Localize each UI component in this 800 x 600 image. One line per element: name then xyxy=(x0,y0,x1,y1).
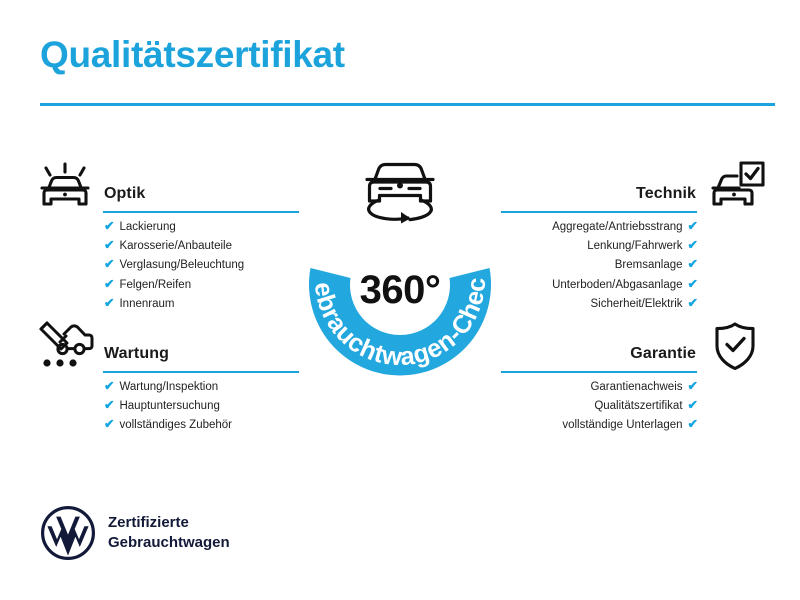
check-icon: ✔ xyxy=(688,220,698,233)
shield-check-icon xyxy=(704,320,766,372)
list-item-label: Unterboden/Abgasanlage xyxy=(552,276,682,295)
check-icon: ✔ xyxy=(104,220,114,233)
list-item-label: Lackierung xyxy=(119,218,175,237)
list-item: ✔vollständiges Zubehör xyxy=(34,416,334,435)
check-icon: ✔ xyxy=(104,278,114,291)
section-technik-title: Technik xyxy=(636,186,696,202)
check-icon: ✔ xyxy=(688,297,698,310)
check-icon: ✔ xyxy=(688,399,698,412)
list-item-label: Bremsanlage xyxy=(615,256,683,275)
check-icon: ✔ xyxy=(104,380,114,393)
car-service-pen-icon xyxy=(34,320,96,372)
section-wartung-title: Wartung xyxy=(104,346,169,362)
vw-logo-lockup: Zertifizierte Gebrauchtwagen xyxy=(40,505,230,561)
check-icon: ✔ xyxy=(104,418,114,431)
list-item-label: vollständiges Zubehör xyxy=(119,416,232,435)
badge-360-check: Gebrauchtwagen-Check 360° xyxy=(288,154,512,390)
vw-logo xyxy=(40,505,96,561)
check-icon: ✔ xyxy=(688,380,698,393)
check-icon: ✔ xyxy=(688,418,698,431)
list-item: vollständige Unterlagen✔ xyxy=(466,416,766,435)
list-item: ✔Hauptuntersuchung xyxy=(34,397,334,416)
list-item-label: Felgen/Reifen xyxy=(119,276,191,295)
section-wartung-divider xyxy=(103,371,299,374)
quality-certificate-page: Qualitätszertifikat Optik ✔Lackierung ✔K… xyxy=(0,0,800,600)
list-item-label: Sicherheit/Elektrik xyxy=(590,295,682,314)
list-item-label: Innenraum xyxy=(119,295,174,314)
page-title: Qualitätszertifikat xyxy=(40,36,345,73)
vw-logo-text-line1: Zertifizierte xyxy=(108,513,230,533)
car-shine-icon xyxy=(34,160,96,212)
list-item-label: Qualitätszertifikat xyxy=(594,397,682,416)
title-divider xyxy=(40,103,775,106)
check-icon: ✔ xyxy=(104,399,114,412)
list-item: Qualitätszertifikat✔ xyxy=(466,397,766,416)
vw-logo-text: Zertifizierte Gebrauchtwagen xyxy=(108,513,230,553)
list-item-label: Garantienachweis xyxy=(590,378,682,397)
badge-degrees: 360° xyxy=(288,270,512,310)
section-technik-divider xyxy=(501,211,697,214)
check-icon: ✔ xyxy=(688,258,698,271)
section-optik-title: Optik xyxy=(104,186,145,202)
list-item-label: vollständige Unterlagen xyxy=(562,416,682,435)
section-garantie-divider xyxy=(501,371,697,374)
list-item-label: Hauptuntersuchung xyxy=(119,397,219,416)
check-icon: ✔ xyxy=(688,278,698,291)
section-garantie-title: Garantie xyxy=(630,346,696,362)
section-optik-divider xyxy=(103,211,299,214)
list-item-label: Wartung/Inspektion xyxy=(119,378,218,397)
check-icon: ✔ xyxy=(688,239,698,252)
vw-logo-text-line2: Gebrauchtwagen xyxy=(108,533,230,553)
list-item-label: Aggregate/Antriebsstrang xyxy=(552,218,682,237)
list-item-label: Verglasung/Beleuchtung xyxy=(119,256,244,275)
list-item-label: Karosserie/Anbauteile xyxy=(119,237,232,256)
list-item-label: Lenkung/Fahrwerk xyxy=(587,237,682,256)
car-checkbox-icon xyxy=(704,160,766,212)
check-icon: ✔ xyxy=(104,297,114,310)
check-icon: ✔ xyxy=(104,258,114,271)
check-icon: ✔ xyxy=(104,239,114,252)
